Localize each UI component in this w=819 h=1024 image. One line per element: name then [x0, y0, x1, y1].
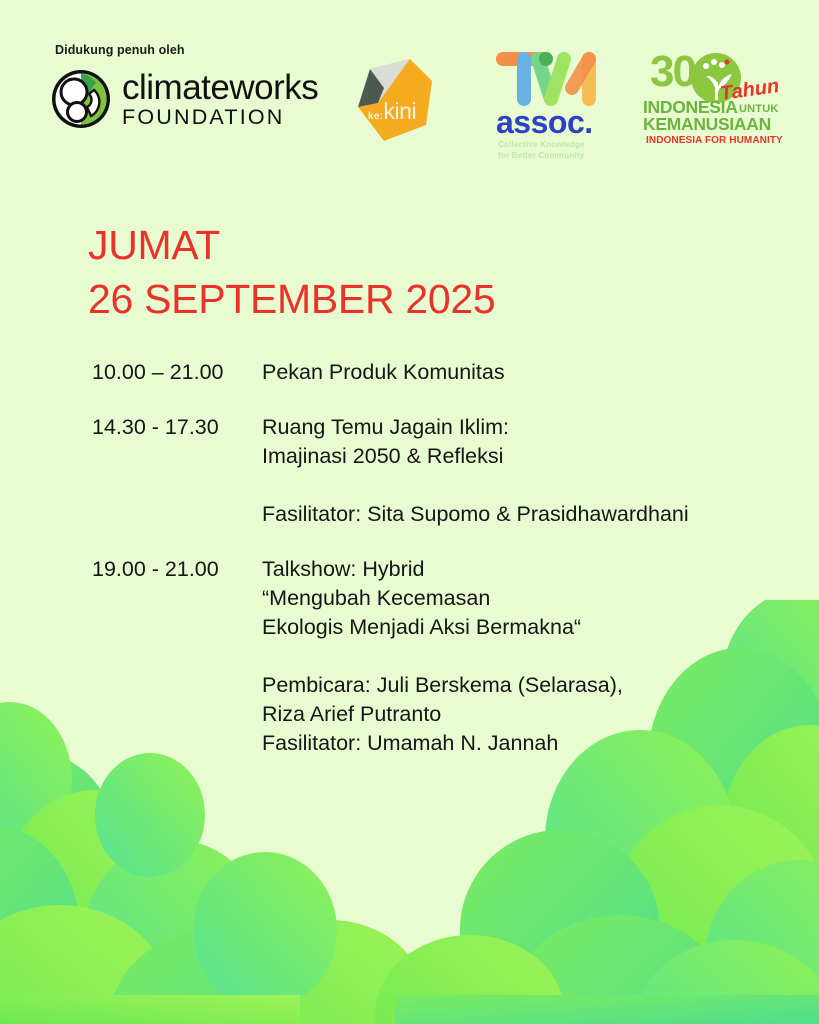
schedule-row: 19.00 - 21.00Talkshow: Hybrid“Mengubah K… — [92, 555, 792, 758]
logo-climateworks-foundation: climateworks FOUNDATION — [50, 68, 290, 130]
event-poster: Didukung penuh oleh climateworks FOUNDAT… — [0, 0, 819, 1024]
schedule-line: Fasilitator: Sita Supomo & Prasidhawardh… — [262, 500, 792, 529]
schedule-line: Riza Arief Putranto — [262, 700, 792, 729]
headline-day: JUMAT — [88, 218, 495, 272]
climateworks-foundation-label: FOUNDATION — [122, 106, 337, 128]
schedule-description: Pekan Produk Komunitas — [262, 358, 792, 387]
ika-english-label: INDONESIA FOR HUMANITY — [646, 135, 783, 146]
page-title: JUMAT 26 SEPTEMBER 2025 — [88, 218, 495, 326]
sponsor-logo-strip: Didukung penuh oleh climateworks FOUNDAT… — [0, 0, 819, 175]
schedule-line: Fasilitator: Umamah N. Jannah — [262, 729, 792, 758]
kekini-wordmark: ke:kini — [368, 98, 448, 125]
schedule-line: Ruang Temu Jagain Iklim: — [262, 413, 792, 442]
tm-assoc-tagline: Collective Knowledge for Better Communit… — [498, 140, 585, 161]
logo-indonesia-untuk-kemanusiaan: 30 Tahun INDONESIA UNTUK KEMANUSIAAN IND… — [640, 50, 792, 150]
headline-date: 26 SEPTEMBER 2025 — [88, 272, 495, 326]
schedule-line: Pembicara: Juli Berskema (Selarasa), — [262, 671, 792, 700]
tm-tagline-line1: Collective Knowledge — [498, 140, 585, 151]
logo-kekini: ke:kini — [348, 55, 444, 145]
climateworks-wordmark: climateworks FOUNDATION — [122, 71, 337, 128]
schedule-line-spacer — [262, 471, 792, 500]
ika-anniversary-number: 30 — [650, 50, 695, 94]
schedule-line: Imajinasi 2050 & Refleksi — [262, 442, 792, 471]
tm-assoc-word: assoc. — [496, 105, 593, 139]
schedule-row: 14.30 - 17.30Ruang Temu Jagain Iklim:Ima… — [92, 413, 792, 529]
schedule-line: Ekologis Menjadi Aksi Bermakna“ — [262, 613, 792, 642]
support-label: Didukung penuh oleh — [55, 43, 185, 57]
schedule-time: 19.00 - 21.00 — [92, 555, 262, 584]
climateworks-name: climateworks — [122, 71, 337, 105]
schedule-line: Pekan Produk Komunitas — [262, 358, 792, 387]
kekini-main: kini — [383, 98, 416, 124]
schedule-description: Talkshow: Hybrid“Mengubah KecemasanEkolo… — [262, 555, 792, 758]
climateworks-circle-icon — [50, 68, 112, 130]
schedule-line: “Mengubah Kecemasan — [262, 584, 792, 613]
tm-monogram-icon — [494, 48, 604, 110]
schedule-time: 10.00 – 21.00 — [92, 358, 262, 387]
ika-line-kemanusiaan: KEMANUSIAAN — [643, 115, 771, 133]
schedule-line: Talkshow: Hybrid — [262, 555, 792, 584]
tm-tagline-line2: for Better Community — [498, 151, 585, 162]
schedule-time: 14.30 - 17.30 — [92, 413, 262, 442]
schedule-description: Ruang Temu Jagain Iklim:Imajinasi 2050 &… — [262, 413, 792, 529]
logo-tm-assoc: assoc. Collective Knowledge for Better C… — [492, 48, 614, 160]
schedule-list: 10.00 – 21.00Pekan Produk Komunitas14.30… — [92, 358, 792, 784]
schedule-row: 10.00 – 21.00Pekan Produk Komunitas — [92, 358, 792, 387]
schedule-line-spacer — [262, 642, 792, 671]
kekini-prefix: ke: — [368, 111, 383, 122]
